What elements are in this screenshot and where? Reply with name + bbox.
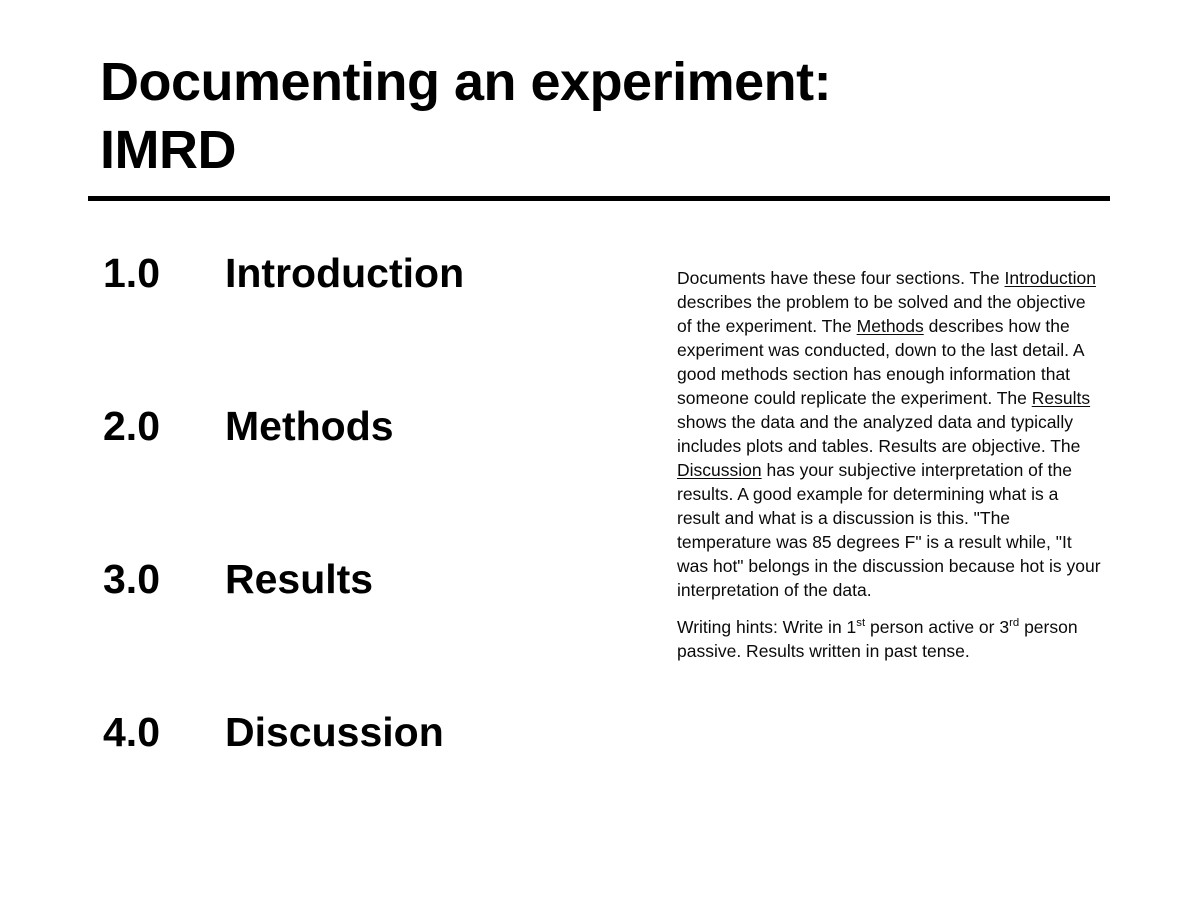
slide-title: Documenting an experiment: IMRD	[100, 48, 1120, 184]
outline-number-3: 3.0	[103, 554, 160, 604]
outline-list: 1.0 Introduction 2.0 Methods 3.0 Results…	[100, 248, 660, 860]
outline-number-2: 2.0	[103, 401, 160, 451]
outline-label-4: Discussion	[225, 707, 444, 757]
body-term-discussion: Discussion	[677, 460, 762, 480]
body-paragraph-writing-hints: Writing hints: Write in 1st person activ…	[677, 615, 1105, 663]
body-text-segment-5: has your subjective interpretation of th…	[677, 460, 1101, 600]
body-term-methods: Methods	[857, 316, 924, 336]
outline-item-methods: 2.0 Methods	[100, 401, 660, 554]
outline-item-introduction: 1.0 Introduction	[100, 248, 660, 401]
title-divider-rule	[88, 196, 1110, 201]
outline-number-4: 4.0	[103, 707, 160, 757]
title-line-2: IMRD	[100, 116, 1120, 184]
outline-label-2: Methods	[225, 401, 394, 451]
body-text-segment-4: shows the data and the analyzed data and…	[677, 412, 1080, 456]
slide-canvas: Documenting an experiment: IMRD 1.0 Intr…	[0, 0, 1200, 900]
outline-label-1: Introduction	[225, 248, 464, 298]
hints-ordinal-st: st	[856, 617, 865, 629]
body-text-segment-1: Documents have these four sections. The	[677, 268, 1005, 288]
body-text-column: Documents have these four sections. The …	[677, 266, 1105, 663]
hints-text-segment-2: person active or 3	[865, 617, 1009, 637]
body-term-results: Results	[1032, 388, 1090, 408]
outline-item-discussion: 4.0 Discussion	[100, 707, 660, 860]
title-line-1: Documenting an experiment:	[100, 48, 1120, 116]
outline-number-1: 1.0	[103, 248, 160, 298]
outline-label-3: Results	[225, 554, 373, 604]
hints-ordinal-rd: rd	[1009, 617, 1019, 629]
outline-item-results: 3.0 Results	[100, 554, 660, 707]
hints-text-segment-1: Writing hints: Write in 1	[677, 617, 856, 637]
body-paragraph-sections: Documents have these four sections. The …	[677, 266, 1105, 602]
body-term-introduction: Introduction	[1005, 268, 1096, 288]
